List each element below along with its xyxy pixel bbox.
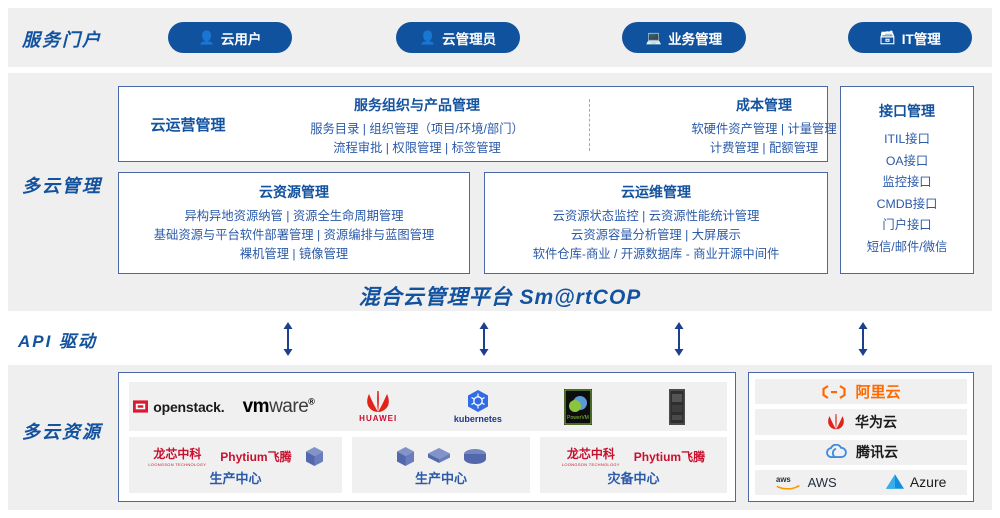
- datacenter-production-1: 龙芯中科 LOONGSON TECHNOLOGY Phytium飞腾 生产中心: [129, 437, 342, 493]
- public-cloud-panel: 阿里云 华为云 腾讯云 aws AWS: [748, 372, 974, 502]
- vmware-logo: vmware®: [243, 396, 315, 418]
- column-line: 流程审批 | 权限管理 | 标签管理: [257, 139, 577, 158]
- cloud-operation-side-label: 云运营管理: [133, 87, 243, 161]
- server-icon: 🗃: [879, 31, 896, 44]
- box-line: 软件仓库-商业 / 开源数据库 - 商业开源中间件: [485, 245, 827, 264]
- box-line: 裸机管理 | 镜像管理: [119, 245, 469, 264]
- platform-huawei: HUAWEI: [328, 391, 428, 423]
- public-cloud-azure: Azure: [886, 474, 947, 490]
- cloud-label: AWS: [808, 475, 837, 490]
- platform-openstack: openstack.: [129, 399, 229, 415]
- service-portal-label: 服务门户: [22, 26, 102, 52]
- aws-icon: aws: [776, 474, 802, 490]
- portal-pill-label: 云用户: [221, 28, 262, 48]
- multicloud-management-label: 多云管理: [22, 172, 102, 198]
- cloud-label: Azure: [910, 474, 947, 490]
- huawei-icon: [363, 391, 393, 413]
- cloud-label: 华为云: [855, 412, 897, 432]
- datacenter-name: 生产中心: [352, 468, 530, 487]
- portal-pill-cloud-user[interactable]: 👤 云用户: [168, 22, 292, 53]
- svg-text:aws: aws: [776, 475, 791, 484]
- dashed-divider: [589, 99, 590, 151]
- platform-label: ware: [269, 396, 308, 417]
- double-arrow-icon: [281, 322, 295, 356]
- public-cloud-aws: aws AWS: [776, 474, 837, 490]
- user-icon: 👤: [420, 31, 436, 44]
- multicloud-resource-label: 多云资源: [22, 418, 102, 444]
- portal-pill-cloud-admin[interactable]: 👤 云管理员: [396, 22, 520, 53]
- portal-pill-business-mgmt[interactable]: 💻 业务管理: [622, 22, 746, 53]
- datacenter-production-2: 生产中心: [352, 437, 530, 493]
- platform-server-rack: [627, 389, 727, 425]
- cloud-om-mgmt-box: 云运维管理 云资源状态监控 | 云资源性能统计管理 云资源容量分析管理 | 大屏…: [484, 172, 828, 274]
- public-cloud-huawei: 华为云: [755, 409, 967, 434]
- api-driven-label: API 驱动: [18, 327, 97, 352]
- api-driven-band: [8, 317, 992, 359]
- cloud-label: 腾讯云: [856, 442, 898, 462]
- public-cloud-aws-azure-row: aws AWS Azure: [755, 470, 967, 495]
- private-resource-panel: openstack. vmware® HUAWEI: [118, 372, 736, 502]
- platform-label: kubernetes: [454, 414, 502, 424]
- datacenter-row: 龙芯中科 LOONGSON TECHNOLOGY Phytium飞腾 生产中心: [129, 437, 727, 493]
- switch-icon: [428, 448, 450, 464]
- platform-vmware: vmware®: [229, 396, 329, 418]
- powervm-icon: PowerVM: [564, 389, 592, 425]
- platform-label: openstack.: [153, 399, 224, 415]
- datacenter-name: 生产中心: [129, 468, 342, 487]
- interface-item: 门户接口: [841, 215, 973, 237]
- platform-powervm: PowerVM: [528, 389, 628, 425]
- double-arrow-icon: [477, 322, 491, 356]
- datacenter-disaster-recovery: 龙芯中科 LOONGSON TECHNOLOGY Phytium飞腾 灾备中心: [540, 437, 727, 493]
- aliyun-icon: [821, 385, 847, 399]
- server-cube-icon: [306, 447, 323, 466]
- server-rack-icon: [669, 389, 685, 425]
- loongson-logo: 龙芯中科 LOONGSON TECHNOLOGY: [562, 445, 620, 467]
- platform-logo-strip: openstack. vmware® HUAWEI: [129, 382, 727, 431]
- box-title: 云资源管理: [119, 182, 469, 202]
- architecture-diagram: 服务门户 👤 云用户 👤 云管理员 💻 业务管理 🗃 IT管理 多云管理 云运营…: [0, 0, 1000, 518]
- loongson-logo: 龙芯中科 LOONGSON TECHNOLOGY: [148, 445, 206, 467]
- openstack-icon: [133, 399, 148, 414]
- datacenter-name: 灾备中心: [540, 468, 727, 487]
- cloud-resource-mgmt-box: 云资源管理 异构异地资源纳管 | 资源全生命周期管理 基础资源与平台软件部署管理…: [118, 172, 470, 274]
- kubernetes-icon: [466, 389, 490, 413]
- column-title: 服务组织与产品管理: [257, 95, 577, 115]
- interface-item: CMDB接口: [841, 194, 973, 216]
- interface-item: ITIL接口: [841, 129, 973, 151]
- box-line: 异构异地资源纳管 | 资源全生命周期管理: [119, 207, 469, 226]
- chip-label: 龙芯中科: [567, 445, 615, 462]
- interface-item: 短信/邮件/微信: [841, 237, 973, 259]
- box-title: 云运维管理: [485, 182, 827, 202]
- service-product-mgmt-column: 服务组织与产品管理 服务目录 | 组织管理（项目/环境/部门） 流程审批 | 权…: [257, 95, 577, 158]
- cloud-label: 阿里云: [855, 381, 900, 402]
- chip-sublabel: LOONGSON TECHNOLOGY: [148, 462, 206, 467]
- double-arrow-icon: [856, 322, 870, 356]
- portal-pill-label: IT管理: [902, 28, 941, 48]
- box-line: 基础资源与平台软件部署管理 | 资源编排与蓝图管理: [119, 226, 469, 245]
- chip-label: Phytium飞腾: [220, 448, 291, 465]
- tencent-cloud-icon: [824, 444, 848, 460]
- box-line: 云资源容量分析管理 | 大屏展示: [485, 226, 827, 245]
- chip-label: 龙芯中科: [153, 445, 201, 462]
- server-cube-icon: [397, 447, 414, 466]
- public-cloud-aliyun: 阿里云: [755, 379, 967, 404]
- platform-label: HUAWEI: [359, 414, 397, 423]
- public-cloud-tencent: 腾讯云: [755, 440, 967, 465]
- svg-text:PowerVM: PowerVM: [567, 415, 589, 421]
- chip-sublabel: LOONGSON TECHNOLOGY: [562, 462, 620, 467]
- user-icon: 👤: [199, 31, 215, 44]
- interface-item: 监控接口: [841, 172, 973, 194]
- portal-pill-label: 业务管理: [668, 28, 722, 48]
- portal-pill-it-mgmt[interactable]: 🗃 IT管理: [848, 22, 972, 53]
- chip-label: Phytium飞腾: [634, 448, 705, 465]
- box-line: 云资源状态监控 | 云资源性能统计管理: [485, 207, 827, 226]
- interface-mgmt-box: 接口管理 ITIL接口 OA接口 监控接口 CMDB接口 门户接口 短信/邮件/…: [840, 86, 974, 274]
- azure-icon: [886, 474, 904, 490]
- platform-kubernetes: kubernetes: [428, 389, 528, 424]
- storage-icon: [464, 449, 486, 464]
- portal-pill-label: 云管理员: [442, 28, 496, 48]
- business-icon: 💻: [646, 31, 662, 44]
- column-line: 服务目录 | 组织管理（项目/环境/部门）: [257, 120, 577, 139]
- box-title: 接口管理: [841, 101, 973, 121]
- platform-title: 混合云管理平台 Sm@rtCOP: [0, 281, 1000, 311]
- double-arrow-icon: [672, 322, 686, 356]
- interface-item: OA接口: [841, 151, 973, 173]
- cloud-operation-box: 云运营管理 服务组织与产品管理 服务目录 | 组织管理（项目/环境/部门） 流程…: [118, 86, 828, 162]
- huawei-cloud-icon: [825, 414, 847, 430]
